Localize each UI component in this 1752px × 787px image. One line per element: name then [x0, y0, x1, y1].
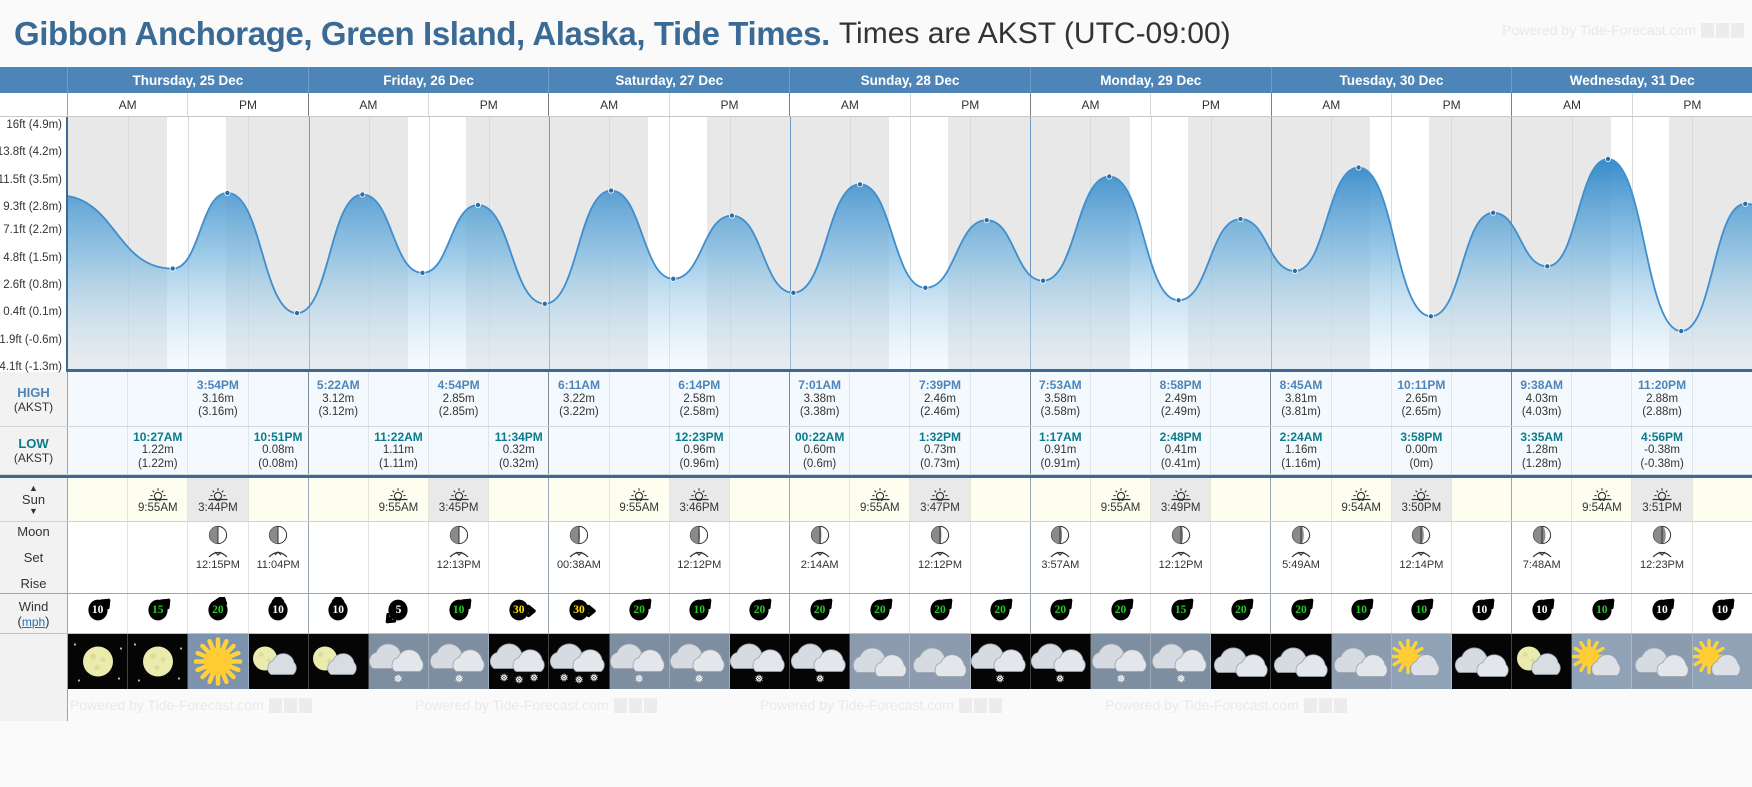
wind-marker: 20 — [196, 597, 240, 631]
badge-icon-3 — [644, 698, 657, 713]
tide-height-alt: (0.32m) — [499, 458, 539, 472]
ampm-corner — [0, 93, 68, 116]
sun-cell-26: 3:51PM — [1632, 478, 1692, 521]
moon-cell-14: 12:12PM — [910, 522, 970, 593]
wind-unit-link[interactable]: mph — [22, 615, 45, 629]
moon-label: Moon Set Rise — [0, 522, 68, 593]
moon-phase-icon — [1411, 525, 1431, 545]
wind-cell-25: 10 — [1572, 594, 1632, 633]
moon-set-icon — [1290, 548, 1312, 559]
hl-cell-4: 5:22AM3.12m(3.12m) — [309, 372, 369, 426]
tide-time: 7:39PM — [919, 378, 961, 392]
tide-height-alt: (0.41m) — [1161, 458, 1201, 472]
wind-speed: 20 — [798, 604, 842, 616]
wind-marker: 20 — [978, 597, 1022, 631]
moon-phase-icon — [268, 525, 288, 545]
tide-forecast-page: Gibbon Anchorage, Green Island, Alaska, … — [0, 0, 1752, 787]
hl-cell-20: 2:24AM1.16m(1.16m) — [1271, 427, 1331, 474]
wind-cell-23: 10 — [1452, 594, 1512, 633]
sunrise-icon — [1111, 486, 1131, 501]
moon-cell-17 — [1091, 522, 1151, 593]
wind-speed: 10 — [1640, 604, 1684, 616]
wind-marker: 10 — [1399, 597, 1443, 631]
wind-speed: 20 — [617, 604, 661, 616]
tide-height-alt: (3.22m) — [559, 406, 599, 420]
svg-text:❅: ❅ — [574, 673, 583, 686]
sun-cell-23 — [1452, 478, 1512, 521]
cloud-icon — [1271, 634, 1331, 689]
hl-cell-7: 11:34PM0.32m(0.32m) — [489, 427, 549, 474]
wind-speed: 10 — [437, 604, 481, 616]
moon-phase-icon — [1171, 525, 1191, 545]
hl-cell-0 — [68, 372, 128, 426]
wind-cell-4: 10 — [309, 594, 369, 633]
hl-cell-13 — [850, 427, 910, 474]
header-watermark-badges — [1701, 23, 1744, 38]
hl-cell-7 — [489, 372, 549, 426]
wx-cell-11: ❅ — [730, 634, 790, 689]
wx-cell-3 — [249, 634, 309, 689]
moon-phase-icon — [1291, 525, 1311, 545]
cloud-icon — [910, 634, 970, 689]
cloud-snow-icon: ❅ — [1091, 634, 1151, 689]
tide-height: 0.41m — [1165, 444, 1197, 458]
sun-cell-25: 9:54AM — [1572, 478, 1632, 521]
wx-cell-12: ❅ — [790, 634, 850, 689]
sun-cell-13: 9:55AM — [850, 478, 910, 521]
sunrise-icon — [870, 486, 890, 501]
wind-label: Wind (mph) — [0, 594, 68, 633]
moon-cell-1 — [128, 522, 188, 593]
moon-set-icon — [688, 548, 710, 559]
svg-text:❅: ❅ — [635, 672, 644, 685]
cloud-snow-heavy-icon: ❅❅❅ — [489, 634, 549, 689]
sun-cell-7 — [489, 478, 549, 521]
wx-cell-13 — [850, 634, 910, 689]
tide-time: 5:22AM — [317, 378, 360, 392]
wx-cell-21 — [1332, 634, 1392, 689]
wx-cell-17: ❅ — [1091, 634, 1151, 689]
tide-chart-plot[interactable] — [68, 117, 1752, 372]
tide-height: 0.00m — [1405, 444, 1437, 458]
footer-watermark-text: Powered by Tide-Forecast.com — [70, 697, 264, 713]
hl-cell-18: 8:58PM2.49m(2.49m) — [1151, 372, 1211, 426]
sunrise-icon — [629, 486, 649, 501]
cloud-snow-icon: ❅ — [610, 634, 670, 689]
moon-cloud-icon — [309, 634, 369, 689]
moon-cell-27 — [1693, 522, 1752, 593]
wx-cell-24 — [1512, 634, 1572, 689]
tide-height-alt: (0m) — [1410, 458, 1434, 472]
moon-set-icon — [207, 548, 229, 559]
hl-cell-16: 7:53AM3.58m(3.58m) — [1031, 372, 1091, 426]
sunrise-arrow-icon: ▲ — [29, 484, 38, 492]
wind-marker: 10 — [1520, 597, 1564, 631]
tide-height: 1.22m — [142, 444, 174, 458]
tide-time: 11:22AM — [374, 430, 423, 444]
tide-height-alt: (0.6m) — [803, 458, 836, 472]
tide-time: 3:54PM — [197, 378, 239, 392]
svg-text:❅: ❅ — [529, 671, 538, 684]
wx-cell-26 — [1632, 634, 1692, 689]
sun-time: 9:55AM — [619, 502, 659, 514]
hl-cell-17 — [1091, 427, 1151, 474]
tide-height: 0.32m — [503, 444, 535, 458]
tide-time: 00:22AM — [795, 430, 844, 444]
tide-height: 2.58m — [683, 393, 715, 407]
moon-time: 12:12PM — [1159, 559, 1203, 571]
hl-cell-9 — [610, 372, 670, 426]
tide-height: 1.16m — [1285, 444, 1317, 458]
moon-time: 12:13PM — [437, 559, 481, 571]
moon-cell-21 — [1332, 522, 1392, 593]
header-watermark: Powered by Tide-Forecast.com — [1502, 22, 1744, 38]
tide-height: 4.03m — [1526, 393, 1558, 407]
cloud-icon — [1211, 634, 1271, 689]
wind-speed: 10 — [1580, 604, 1624, 616]
sun-time: 3:49PM — [1161, 502, 1201, 514]
tide-height: 2.49m — [1165, 393, 1197, 407]
sun-time: 9:54AM — [1341, 502, 1381, 514]
tide-height-alt: (3.81m) — [1281, 406, 1321, 420]
svg-text:❅: ❅ — [815, 672, 824, 685]
sun-cell-12 — [790, 478, 850, 521]
y-axis-tick-5: 4.8ft (1.5m) — [3, 252, 62, 264]
wx-cell-5: ❅ — [369, 634, 429, 689]
moon-cell-4 — [309, 522, 369, 593]
badge-icon-2 — [1319, 698, 1332, 713]
day-header-label: Tuesday, 30 Dec — [1340, 73, 1444, 88]
hl-cell-23 — [1452, 427, 1512, 474]
badge-icon-2 — [974, 698, 987, 713]
hl-cell-15 — [971, 427, 1031, 474]
sun-cell-5: 9:55AM — [369, 478, 429, 521]
day-header-0[interactable]: Thursday, 25 Dec — [68, 67, 309, 93]
moon-set-icon — [1410, 548, 1432, 559]
ampm-cell-8: AM — [1031, 93, 1151, 116]
y-axis-tick-6: 2.6ft (0.8m) — [3, 279, 62, 291]
sun-time: 9:54AM — [1582, 502, 1622, 514]
wind-cell-0: 10 — [68, 594, 128, 633]
sun-cell-9: 9:55AM — [610, 478, 670, 521]
moon-cell-16: 3:57AM — [1031, 522, 1091, 593]
svg-text:❅: ❅ — [1116, 672, 1125, 685]
sunset-icon — [1171, 486, 1191, 501]
hl-cell-6: 4:54PM2.85m(2.85m) — [429, 372, 489, 426]
wind-marker: 30 — [557, 597, 601, 631]
tide-height: 3.16m — [202, 393, 234, 407]
tide-height-alt: (1.28m) — [1522, 458, 1562, 472]
tide-height: 0.96m — [683, 444, 715, 458]
tide-time: 6:11AM — [558, 378, 600, 392]
moon-cell-12: 2:14AM — [790, 522, 850, 593]
tide-height: 3.81m — [1285, 393, 1317, 407]
tide-height-alt: (3.38m) — [800, 406, 840, 420]
wind-speed: 20 — [1279, 604, 1323, 616]
day-header-5[interactable]: Tuesday, 30 Dec — [1272, 67, 1513, 93]
hl-cell-2: 3:54PM3.16m(3.16m) — [188, 372, 248, 426]
wind-speed: 30 — [557, 604, 601, 616]
footer-watermark: Powered by Tide-Forecast.com — [1105, 697, 1347, 713]
ampm-cell-12: AM — [1512, 93, 1632, 116]
tide-height-alt: (2.88m) — [1642, 406, 1682, 420]
wx-cell-14 — [910, 634, 970, 689]
wind-cell-1: 15 — [128, 594, 188, 633]
wind-marker: 30 — [497, 597, 541, 631]
moon-cell-23 — [1452, 522, 1512, 593]
tide-time: 2:48PM — [1160, 430, 1202, 444]
sun-cell-18: 3:49PM — [1151, 478, 1211, 521]
day-header-4[interactable]: Monday, 29 Dec — [1031, 67, 1272, 93]
sun-cloud-icon — [1392, 634, 1452, 689]
day-header-3[interactable]: Sunday, 28 Dec — [790, 67, 1031, 93]
wx-cell-27 — [1693, 634, 1752, 689]
wind-marker: 10 — [437, 597, 481, 631]
moon-phase-icon — [569, 525, 589, 545]
hl-cell-25 — [1572, 372, 1632, 426]
ampm-cell-5: PM — [670, 93, 790, 116]
wind-speed: 10 — [256, 604, 300, 616]
tide-height: 2.88m — [1646, 393, 1678, 407]
badge-icon-1 — [1701, 23, 1714, 38]
tide-height-alt: (2.58m) — [679, 406, 719, 420]
wind-speed: 20 — [858, 604, 902, 616]
svg-text:❅: ❅ — [589, 671, 598, 684]
hl-cell-10: 6:14PM2.58m(2.58m) — [670, 372, 730, 426]
svg-text:❅: ❅ — [499, 671, 508, 684]
wind-cell-19: 20 — [1211, 594, 1271, 633]
hl-cell-0 — [68, 427, 128, 474]
tide-height-alt: (1.16m) — [1281, 458, 1321, 472]
wind-cell-13: 20 — [850, 594, 910, 633]
hl-cell-2 — [188, 427, 248, 474]
y-axis-tick-7: 0.4ft (0.1m) — [3, 306, 62, 318]
low-tide-row: LOW (AKST) 10:27AM1.22m(1.22m)10:51PM0.0… — [0, 427, 1752, 475]
moon-cell-19 — [1211, 522, 1271, 593]
day-header-1[interactable]: Friday, 26 Dec — [309, 67, 550, 93]
wind-cell-22: 10 — [1392, 594, 1452, 633]
wind-cell-16: 20 — [1031, 594, 1091, 633]
cloud-snow-icon: ❅ — [790, 634, 850, 689]
hl-cell-11 — [730, 427, 790, 474]
tide-height: 2.46m — [924, 393, 956, 407]
high-tide-row: HIGH (AKST) 3:54PM3.16m(3.16m)5:22AM3.12… — [0, 372, 1752, 427]
moon-set-icon — [1651, 548, 1673, 559]
sun-cloud-icon — [1693, 634, 1752, 689]
weather-row: ❅❅❅❅❅❅❅❅❅❅❅❅❅❅❅❅ — [0, 634, 1752, 689]
wind-cell-15: 20 — [971, 594, 1031, 633]
tide-time: 8:58PM — [1160, 378, 1202, 392]
moon-cloud-icon — [1512, 634, 1572, 689]
moon-time: 12:12PM — [677, 559, 721, 571]
tide-height: 3.22m — [563, 393, 595, 407]
wx-cell-8: ❅❅❅ — [549, 634, 609, 689]
wind-cell-6: 10 — [429, 594, 489, 633]
footer-watermark-text: Powered by Tide-Forecast.com — [415, 697, 609, 713]
tide-height-alt: (1.22m) — [138, 458, 178, 472]
svg-text:❅: ❅ — [996, 672, 1005, 685]
moon-time: 2:14AM — [801, 559, 839, 571]
moon-cell-22: 12:14PM — [1392, 522, 1452, 593]
hl-cell-12: 00:22AM0.60m(0.6m) — [790, 427, 850, 474]
hl-cell-22: 3:58PM0.00m(0m) — [1392, 427, 1452, 474]
weather-label — [0, 634, 68, 689]
sun-cell-24 — [1512, 478, 1572, 521]
chart-y-axis: 16ft (4.9m)13.8ft (4.2m)11.5ft (3.5m)9.3… — [0, 117, 68, 372]
day-header-6[interactable]: Wednesday, 31 Dec — [1512, 67, 1752, 93]
hl-cell-8: 6:11AM3.22m(3.22m) — [549, 372, 609, 426]
day-header-2[interactable]: Saturday, 27 Dec — [549, 67, 790, 93]
header-watermark-text: Powered by Tide-Forecast.com — [1502, 22, 1696, 38]
svg-text:❅: ❅ — [394, 672, 403, 685]
sun-row: ▲ Sun ▼ 9:55AM3:44PM9:55AM3:45PM9:55AM3:… — [0, 478, 1752, 522]
tide-time: 1:17AM — [1039, 430, 1082, 444]
wind-marker: 5 — [376, 597, 420, 631]
cloud-snow-icon: ❅ — [971, 634, 1031, 689]
wind-speed: 10 — [1520, 604, 1564, 616]
wind-marker: 20 — [1099, 597, 1143, 631]
tide-time: 6:14PM — [678, 378, 720, 392]
wind-cell-18: 15 — [1151, 594, 1211, 633]
hl-cell-26: 4:56PM-0.38m(-0.38m) — [1632, 427, 1692, 474]
hl-cell-26: 11:20PM2.88m(2.88m) — [1632, 372, 1692, 426]
cloud-icon — [850, 634, 910, 689]
wind-marker: 10 — [1580, 597, 1624, 631]
sun-cell-16 — [1031, 478, 1091, 521]
wind-cell-5: 5 — [369, 594, 429, 633]
hl-cell-21 — [1332, 427, 1392, 474]
sun-cell-4 — [309, 478, 369, 521]
tide-height-alt: (2.46m) — [920, 406, 960, 420]
hl-cell-18: 2:48PM0.41m(0.41m) — [1151, 427, 1211, 474]
high-label-text: HIGH — [17, 385, 50, 400]
tide-time: 3:58PM — [1400, 430, 1442, 444]
tide-height: 3.12m — [322, 393, 354, 407]
cloud-snow-icon: ❅ — [730, 634, 790, 689]
moon-set-label: Set — [24, 550, 44, 565]
wind-marker: 10 — [1640, 597, 1684, 631]
wind-cell-10: 10 — [670, 594, 730, 633]
sun-cell-1: 9:55AM — [128, 478, 188, 521]
moon-rise-label: Rise — [20, 576, 46, 591]
moon-time: 12:23PM — [1640, 559, 1684, 571]
wind-cell-8: 30 — [549, 594, 609, 633]
badge-icon-3 — [1334, 698, 1347, 713]
cloud-snow-icon: ❅ — [670, 634, 730, 689]
moon-row: Moon Set Rise 12:15PM11:04PM12:13PM00:38… — [0, 522, 1752, 594]
tide-height: 0.73m — [924, 444, 956, 458]
sunset-icon — [1652, 486, 1672, 501]
svg-text:❅: ❅ — [514, 673, 523, 686]
sun-cell-22: 3:50PM — [1392, 478, 1452, 521]
sun-time: 9:55AM — [1101, 502, 1141, 514]
day-header-label: Friday, 26 Dec — [383, 73, 474, 88]
cloud-snow-heavy-icon: ❅❅❅ — [549, 634, 609, 689]
wind-speed: 15 — [136, 604, 180, 616]
moon-cloud-icon — [249, 634, 309, 689]
moon-set-icon — [1049, 548, 1071, 559]
day-header-label: Sunday, 28 Dec — [861, 73, 960, 88]
tide-height: 3.58m — [1044, 393, 1076, 407]
moon-cell-2: 12:15PM — [188, 522, 248, 593]
tide-time: 2:24AM — [1280, 430, 1323, 444]
wind-cell-3: 10 — [249, 594, 309, 633]
sun-clear-icon — [188, 634, 248, 689]
moon-clear-icon — [128, 634, 188, 689]
wind-cell-9: 20 — [610, 594, 670, 633]
moon-clear-icon — [68, 634, 128, 689]
cloud-icon — [1632, 634, 1692, 689]
wx-cell-18: ❅ — [1151, 634, 1211, 689]
moon-cell-3: 11:04PM — [249, 522, 309, 593]
moon-phase-icon — [810, 525, 830, 545]
tide-height-alt: (0.96m) — [679, 458, 719, 472]
sun-label-text: Sun — [22, 492, 45, 507]
svg-text:❅: ❅ — [695, 672, 704, 685]
wx-cell-20 — [1271, 634, 1331, 689]
wind-speed: 10 — [1339, 604, 1383, 616]
sun-time: 3:47PM — [920, 502, 960, 514]
wind-cell-26: 10 — [1632, 594, 1692, 633]
wx-cell-25 — [1572, 634, 1632, 689]
wind-cell-14: 20 — [910, 594, 970, 633]
day-header-corner — [0, 67, 68, 93]
sunrise-icon — [388, 486, 408, 501]
moon-cell-26: 12:23PM — [1632, 522, 1692, 593]
footer-watermark-badges — [269, 698, 312, 713]
low-tide-label: LOW (AKST) — [0, 427, 68, 474]
tide-time: 9:38AM — [1520, 378, 1563, 392]
wind-speed: 10 — [1460, 604, 1504, 616]
moon-cell-18: 12:12PM — [1151, 522, 1211, 593]
wind-marker: 20 — [1038, 597, 1082, 631]
moon-time: 12:12PM — [918, 559, 962, 571]
wx-cell-9: ❅ — [610, 634, 670, 689]
tide-time: 10:27AM — [133, 430, 182, 444]
tide-height: 1.11m — [383, 444, 414, 458]
sun-cell-20 — [1271, 478, 1331, 521]
hl-cell-5 — [369, 372, 429, 426]
tide-height: 1.28m — [1526, 444, 1558, 458]
footer-watermark-text: Powered by Tide-Forecast.com — [1105, 697, 1299, 713]
moon-cell-9 — [610, 522, 670, 593]
wind-speed: 5 — [376, 604, 420, 616]
wind-cell-24: 10 — [1512, 594, 1572, 633]
wx-cell-1 — [128, 634, 188, 689]
wind-cell-11: 20 — [730, 594, 790, 633]
hl-cell-4 — [309, 427, 369, 474]
sunset-icon — [449, 486, 469, 501]
tide-time: 7:53AM — [1039, 378, 1082, 392]
ampm-cell-6: AM — [790, 93, 910, 116]
moon-phase-icon — [1652, 525, 1672, 545]
hl-cell-1 — [128, 372, 188, 426]
ampm-cell-11: PM — [1392, 93, 1512, 116]
hl-cell-20: 8:45AM3.81m(3.81m) — [1271, 372, 1331, 426]
moon-time: 00:38AM — [557, 559, 601, 571]
cloud-icon — [1332, 634, 1392, 689]
hl-cell-16: 1:17AM0.91m(0.91m) — [1031, 427, 1091, 474]
hl-cell-14: 1:32PM0.73m(0.73m) — [910, 427, 970, 474]
wind-cell-2: 20 — [188, 594, 248, 633]
wind-speed: 10 — [316, 604, 360, 616]
moon-cell-7 — [489, 522, 549, 593]
tide-time: 10:51PM — [254, 430, 303, 444]
sun-time: 9:55AM — [860, 502, 900, 514]
hl-cell-25 — [1572, 427, 1632, 474]
page-header: Gibbon Anchorage, Green Island, Alaska, … — [0, 0, 1752, 67]
hl-cell-14: 7:39PM2.46m(2.46m) — [910, 372, 970, 426]
